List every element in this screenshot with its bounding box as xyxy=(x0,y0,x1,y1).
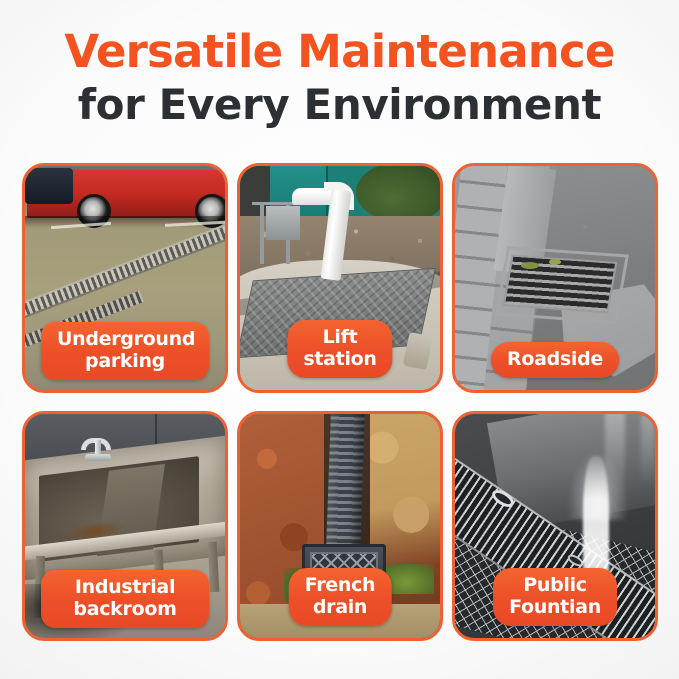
tile-label-industrial-backroom: Industrial backroom xyxy=(41,570,209,628)
environment-tile-grid: Underground parking Lift station xyxy=(22,163,658,641)
page-title: Versatile Maintenance for Every Environm… xyxy=(0,0,679,128)
tile-industrial-backroom[interactable]: Industrial backroom xyxy=(22,411,228,641)
weed-growth xyxy=(549,259,561,265)
faucet-base xyxy=(85,454,111,461)
tile-lift-station[interactable]: Lift station xyxy=(237,163,443,393)
page-title-line-1: Versatile Maintenance xyxy=(0,28,679,77)
dark-car-body xyxy=(25,168,73,204)
shrub xyxy=(356,166,440,222)
tile-label-underground-parking: Underground parking xyxy=(41,322,209,380)
rail-post xyxy=(260,202,264,264)
tile-public-fountain[interactable]: Public Fountian xyxy=(452,411,658,641)
tile-label-roadside: Roadside xyxy=(491,342,619,378)
water-reflection xyxy=(641,414,655,488)
weed-growth xyxy=(521,262,539,269)
tile-label-french-drain: French drain xyxy=(289,568,392,626)
page-title-line-2: for Every Environment xyxy=(0,81,679,128)
tile-underground-parking[interactable]: Underground parking xyxy=(22,163,228,393)
tile-french-drain[interactable]: French drain xyxy=(237,411,443,641)
pump-control-box xyxy=(266,206,300,240)
tile-label-public-fountain: Public Fountian xyxy=(493,568,617,626)
tile-label-lift-station: Lift station xyxy=(287,320,392,378)
tile-roadside[interactable]: Roadside xyxy=(452,163,658,393)
